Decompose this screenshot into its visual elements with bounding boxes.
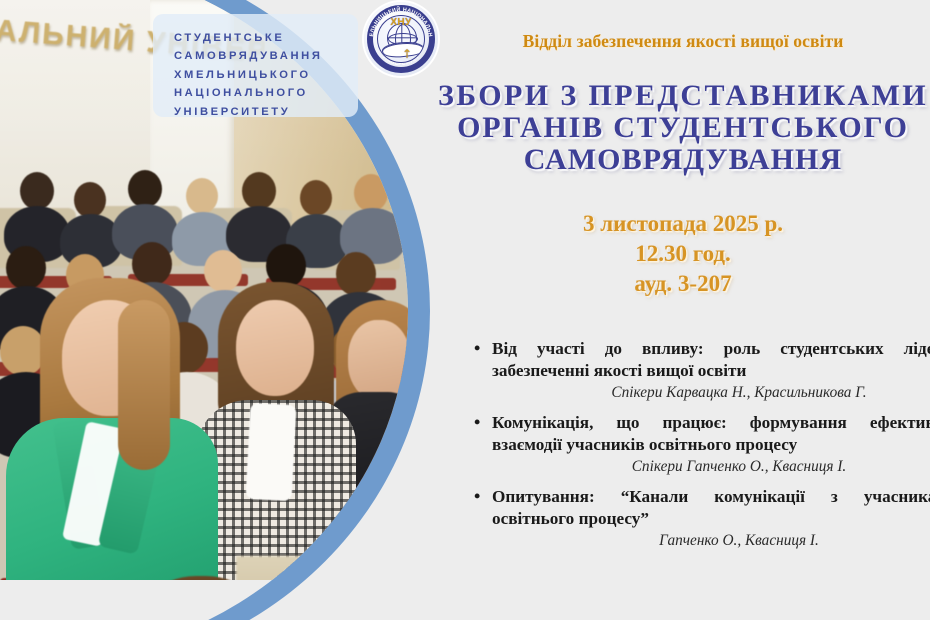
agenda-item-line-2: взаємодії учасників освітнього процесу bbox=[492, 434, 930, 456]
agenda-item-line-2: освітнього процесу” bbox=[492, 508, 930, 530]
aisle-floor bbox=[236, 556, 408, 580]
agenda-item-title: Комунікація, що працює: формування ефект… bbox=[470, 412, 930, 456]
agenda-item-speakers: Спікери Карвацка Н., Красильникова Г. bbox=[470, 382, 930, 402]
event-details: 3 листопада 2025 р. 12.30 год. ауд. 3-20… bbox=[436, 209, 930, 299]
poster-title-line-1: ЗБОРИ З ПРЕДСТАВНИКАМИ bbox=[426, 80, 930, 112]
agenda-item: Комунікація, що працює: формування ефект… bbox=[470, 412, 930, 476]
event-time: 12.30 год. bbox=[436, 239, 930, 269]
event-room: ауд. 3-207 bbox=[436, 269, 930, 299]
poster-title: ЗБОРИ З ПРЕДСТАВНИКАМИ ОРГАНІВ СТУДЕНТСЬ… bbox=[426, 80, 930, 176]
attendee-2-shirt bbox=[246, 403, 297, 501]
attendee-3-head bbox=[348, 320, 408, 400]
student-union-badge-text: СТУДЕНТСЬКЕ САМОВРЯДУВАННЯ ХМЕЛЬНИЦЬКОГО… bbox=[174, 29, 322, 121]
trident-icon: ↑ bbox=[402, 48, 416, 60]
agenda-item-line-2: забезпеченні якості вищої освіти bbox=[492, 360, 930, 382]
agenda-item-line-1: Від участі до впливу: роль студентських … bbox=[492, 338, 930, 360]
agenda-item: Опитування: “Канали комунікації з учасни… bbox=[470, 486, 930, 550]
agenda-list: Від участі до впливу: роль студентських … bbox=[470, 338, 930, 560]
poster-title-line-3: САМОВРЯДУВАННЯ bbox=[426, 144, 930, 176]
attendee-1-hair-front bbox=[118, 300, 170, 470]
agenda-item-speakers: Спікери Гапченко О., Квасниця І. bbox=[470, 456, 930, 476]
event-poster: АЛЬНИЙ УНІВЕРСИТЕТ bbox=[0, 0, 930, 620]
student-union-badge: СТУДЕНТСЬКЕ САМОВРЯДУВАННЯ ХМЕЛЬНИЦЬКОГО… bbox=[153, 14, 358, 117]
university-emblem: ХМЕЛЬНИЦЬКИЙ НАЦІОНАЛЬНИЙ УНІВЕРСИТЕТ ХН… bbox=[364, 2, 438, 76]
agenda-item-line-1: Опитування: “Канали комунікації з учасни… bbox=[492, 486, 930, 508]
event-date: 3 листопада 2025 р. bbox=[436, 209, 930, 239]
attendee-2-head bbox=[236, 300, 314, 396]
agenda-item-title: Опитування: “Канали комунікації з учасни… bbox=[470, 486, 930, 530]
agenda-item-line-1: Комунікація, що працює: формування ефект… bbox=[492, 412, 930, 434]
poster-title-line-2: ОРГАНІВ СТУДЕНТСЬКОГО bbox=[426, 112, 930, 144]
agenda-item: Від участі до впливу: роль студентських … bbox=[470, 338, 930, 402]
emblem-inner-disc: ХНУ ↑ bbox=[377, 15, 425, 63]
emblem-monogram: ХНУ bbox=[378, 17, 424, 28]
agenda-item-speakers: Гапченко О., Квасниця І. bbox=[470, 530, 930, 550]
agenda-item-title: Від участі до впливу: роль студентських … bbox=[470, 338, 930, 382]
poster-content: Відділ забезпечення якості вищої освіти … bbox=[436, 0, 930, 620]
department-heading: Відділ забезпечення якості вищої освіти bbox=[436, 31, 930, 52]
